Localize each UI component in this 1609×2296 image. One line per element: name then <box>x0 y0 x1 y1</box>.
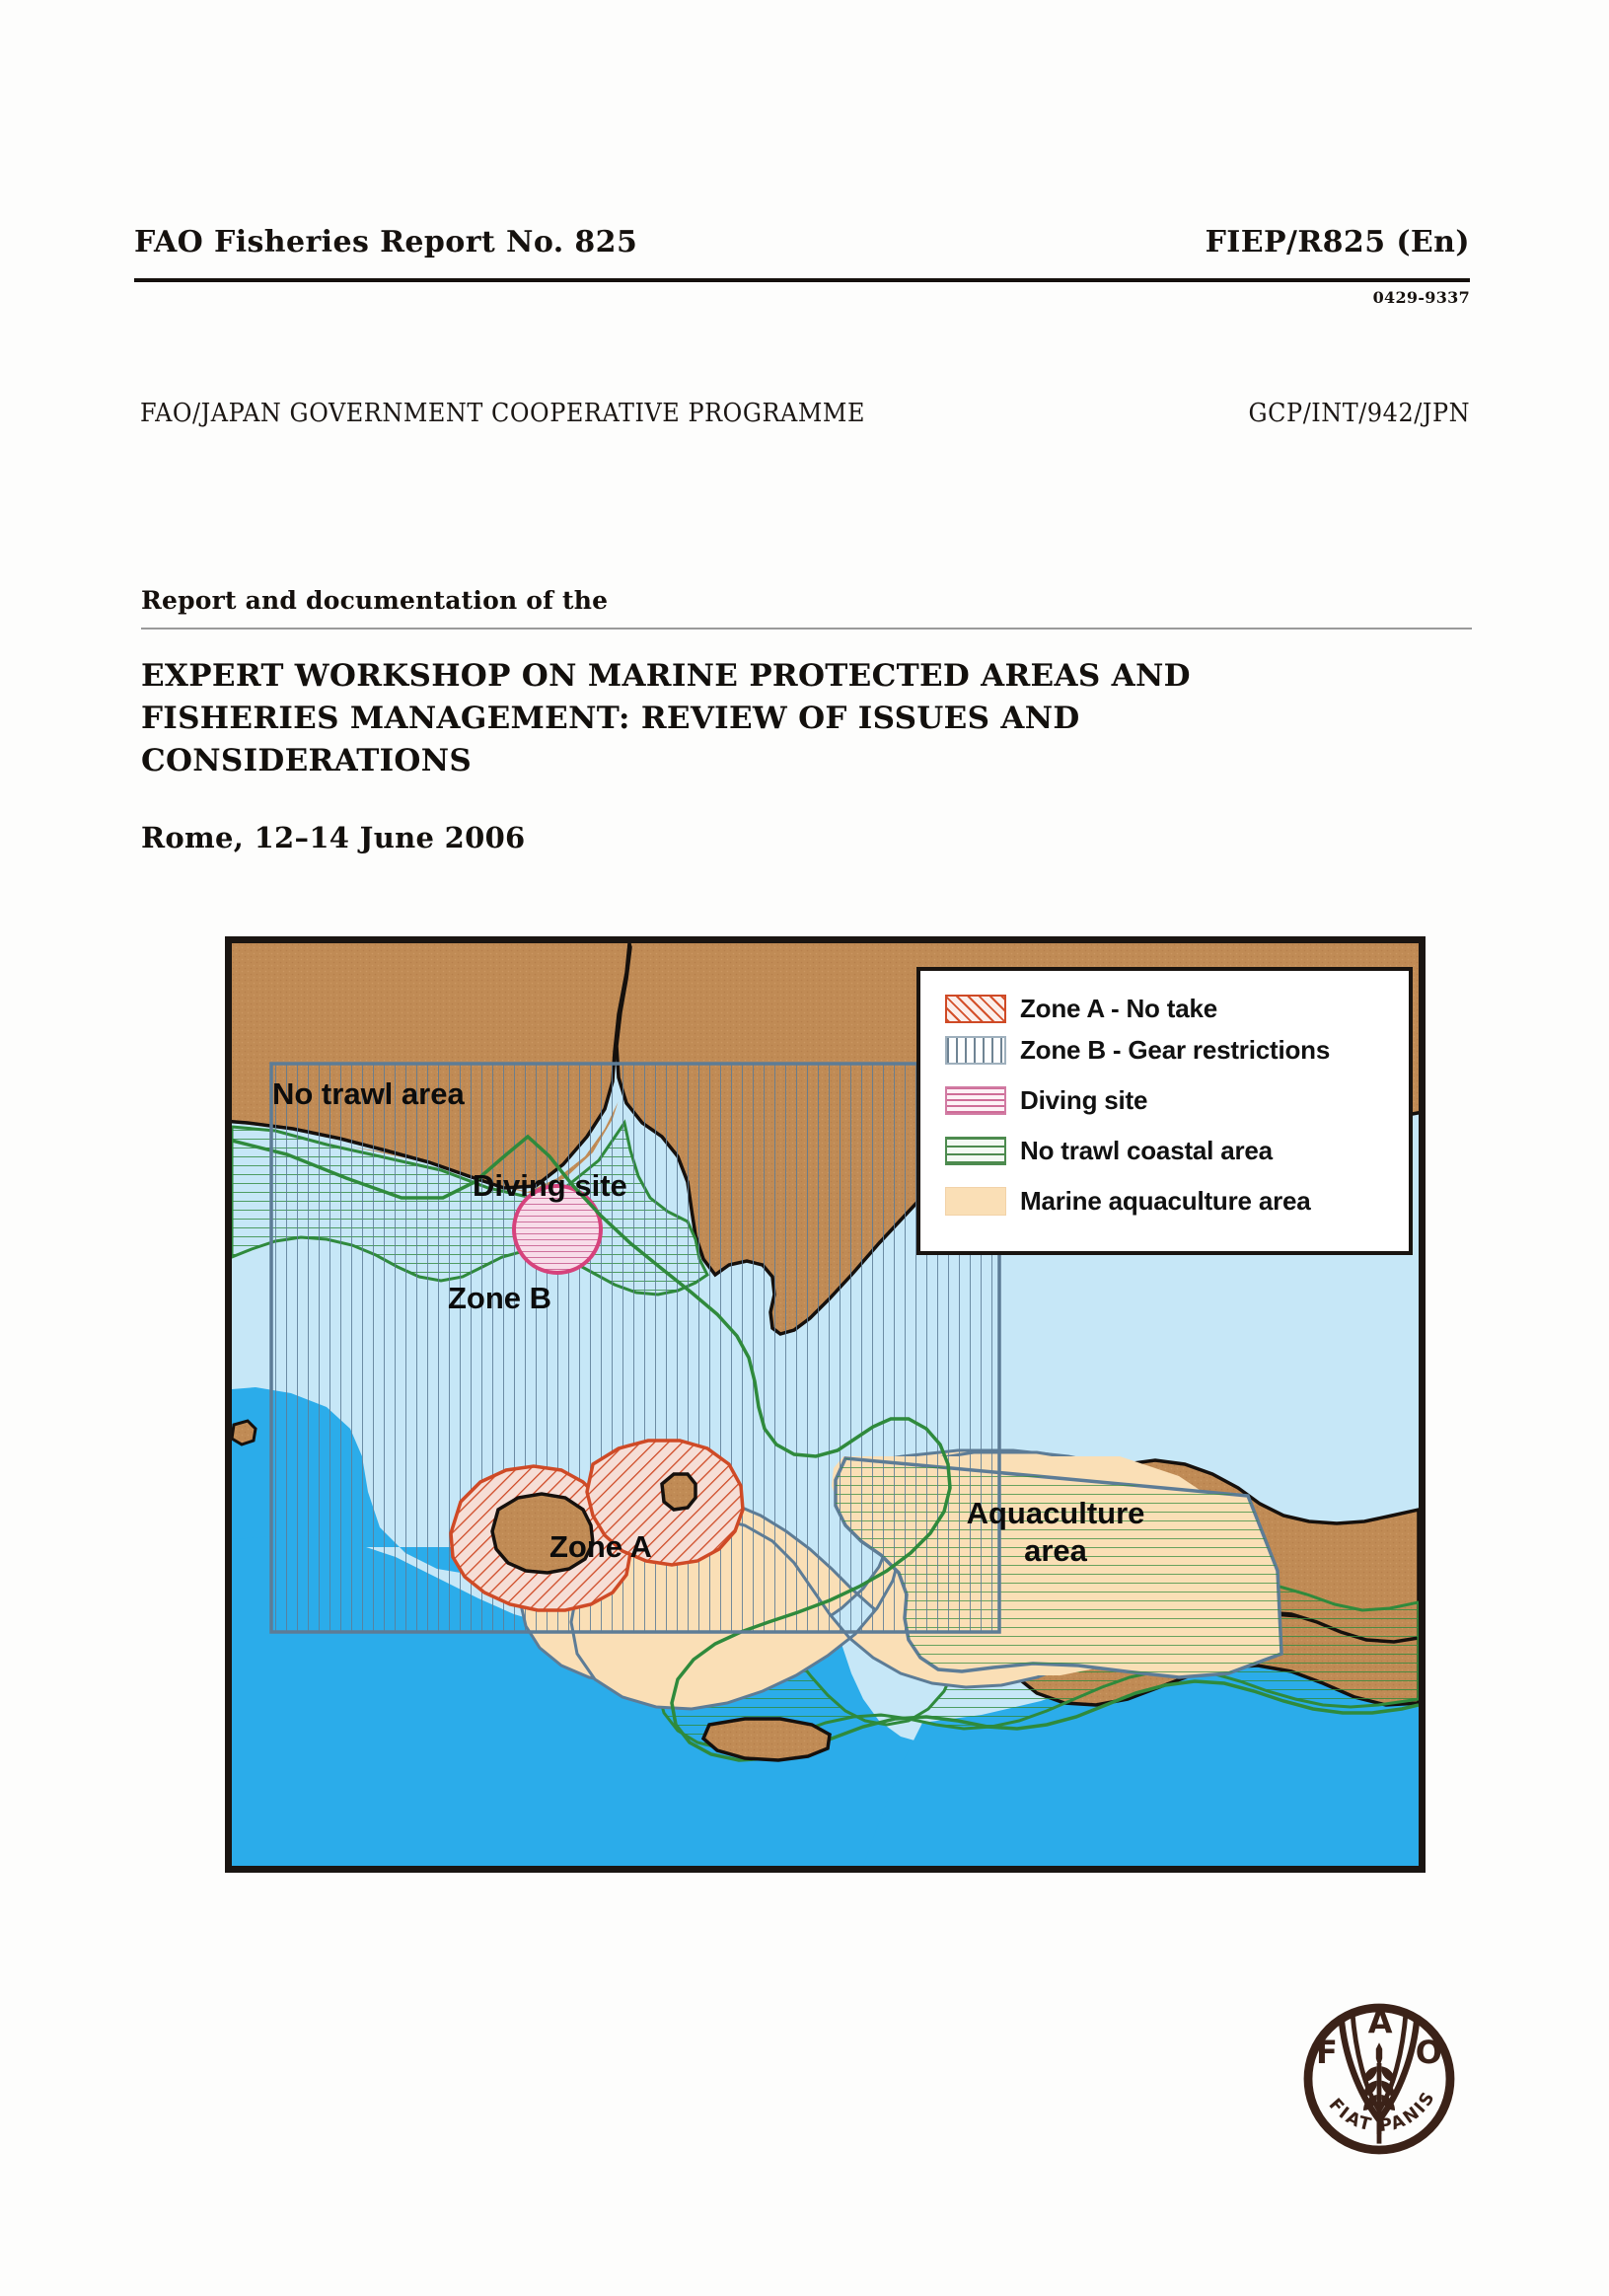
fao-logo-letter-a: A <box>1368 2004 1393 2041</box>
legend-label-no-trawl: No trawl coastal area <box>1020 1136 1273 1166</box>
legend-swatch-no-trawl-icon <box>945 1137 1006 1165</box>
legend-items-list: Zone A - No take Zone B - Gear restricti… <box>945 988 1409 1222</box>
map-canvas: No trawl area Diving site Zone B Zone A … <box>232 943 1419 1866</box>
page-title-line-1: EXPERT WORKSHOP ON MARINE PROTECTED AREA… <box>141 655 1305 698</box>
programme-row: FAO/JAPAN GOVERNMENT COOPERATIVE PROGRAM… <box>140 399 1470 428</box>
page-title-line-2: FISHERIES MANAGEMENT: REVIEW OF ISSUES A… <box>141 698 1305 740</box>
issn-number: 0429-9337 <box>1373 288 1470 307</box>
programme-name: FAO/JAPAN GOVERNMENT COOPERATIVE PROGRAM… <box>140 399 865 428</box>
legend-item-diving-site: Diving site <box>945 1079 1409 1121</box>
diving-site-circle <box>514 1186 601 1273</box>
map-legend: Zone A - No take Zone B - Gear restricti… <box>916 967 1413 1255</box>
zone-a-island-small <box>662 1474 695 1510</box>
legend-item-aquaculture: Marine aquaculture area <box>945 1180 1409 1222</box>
fao-logo-letter-f: F <box>1316 2034 1338 2071</box>
legend-swatch-zone-a-icon <box>945 995 1006 1023</box>
legend-label-diving-site: Diving site <box>1020 1085 1147 1116</box>
place-and-date: Rome, 12–14 June 2006 <box>141 821 526 854</box>
header-divider <box>134 278 1470 282</box>
legend-swatch-aquaculture-icon <box>945 1187 1006 1216</box>
title-divider <box>141 628 1472 630</box>
page-title: EXPERT WORKSHOP ON MARINE PROTECTED AREA… <box>141 655 1305 782</box>
report-number: FAO Fisheries Report No. 825 <box>134 225 637 259</box>
title-kicker: Report and documentation of the <box>141 586 608 615</box>
cover-figure-map: No trawl area Diving site Zone B Zone A … <box>225 936 1426 1873</box>
legend-swatch-diving-site-icon <box>945 1086 1006 1115</box>
legend-swatch-zone-b-icon <box>945 1036 1006 1065</box>
legend-item-no-trawl: No trawl coastal area <box>945 1130 1409 1171</box>
fao-logo-icon: F A O FIAT PANIS <box>1300 2000 1458 2158</box>
fao-logo-letter-o: O <box>1416 2034 1442 2071</box>
document-page: FAO Fisheries Report No. 825 FIEP/R825 (… <box>0 0 1609 2296</box>
zone-a-island-large <box>492 1494 593 1573</box>
legend-label-aquaculture: Marine aquaculture area <box>1020 1186 1311 1217</box>
islet-west <box>232 1421 256 1444</box>
legend-item-zone-a: Zone A - No take <box>945 988 1409 1029</box>
legend-label-zone-a: Zone A - No take <box>1020 994 1217 1024</box>
project-code: GCP/INT/942/JPN <box>1248 399 1470 428</box>
fao-logo: F A O FIAT PANIS <box>1300 2000 1458 2158</box>
legend-item-zone-b: Zone B - Gear restrictions <box>945 1029 1409 1071</box>
document-code: FIEP/R825 (En) <box>1206 225 1470 259</box>
page-title-line-3: CONSIDERATIONS <box>141 740 1305 782</box>
document-header: FAO Fisheries Report No. 825 FIEP/R825 (… <box>134 225 1470 259</box>
legend-label-zone-b: Zone B - Gear restrictions <box>1020 1035 1330 1066</box>
